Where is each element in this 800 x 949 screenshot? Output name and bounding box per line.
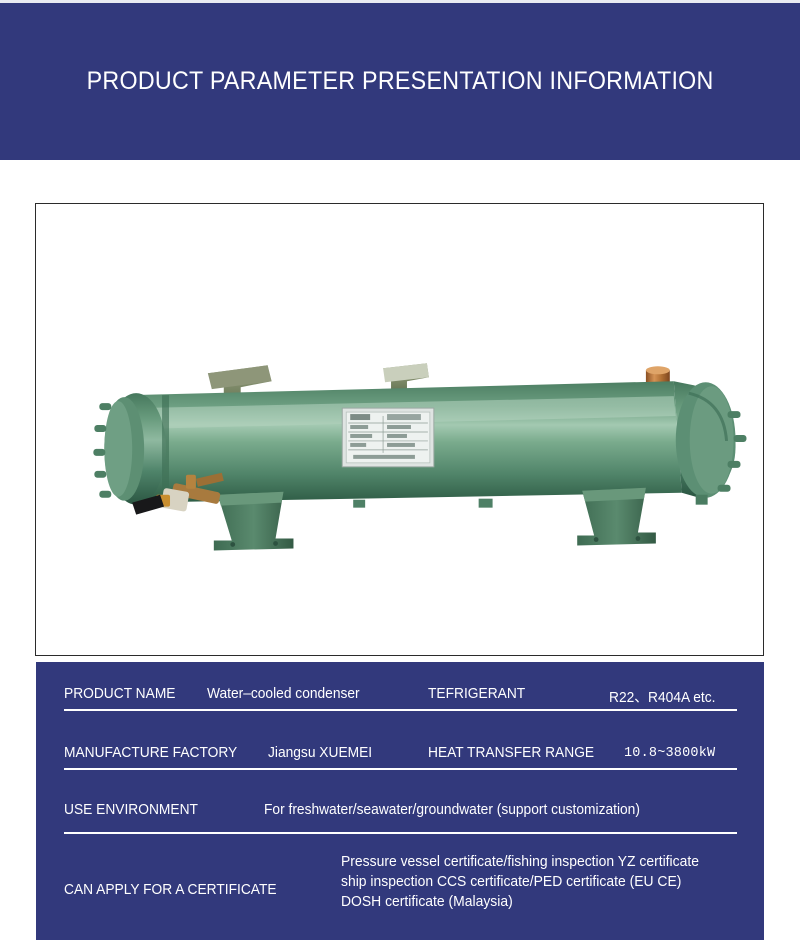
table-row: MANUFACTURE FACTORY Jiangsu XUEMEI HEAT … <box>36 722 764 781</box>
param-value-certificate: Pressure vessel certificate/fishing insp… <box>341 852 699 912</box>
page-title: PRODUCT PARAMETER PRESENTATION INFORMATI… <box>86 67 713 96</box>
param-label-heat-transfer-range: HEAT TRANSFER RANGE <box>428 745 594 761</box>
row-divider <box>64 768 737 770</box>
product-parameter-table: PRODUCT NAME Water–cooled condenser TEFR… <box>36 662 764 940</box>
param-label-use-environment: USE ENVIRONMENT <box>64 802 198 818</box>
table-row: USE ENVIRONMENT For freshwater/seawater/… <box>36 781 764 839</box>
table-row: CAN APPLY FOR A CERTIFICATE Pressure ves… <box>36 839 764 940</box>
product-photo-condenser <box>36 204 763 655</box>
param-value-product-name: Water–cooled condenser <box>207 686 360 702</box>
param-value-use-environment: For freshwater/seawater/groundwater (sup… <box>264 802 640 818</box>
param-value-manufacture-factory: Jiangsu XUEMEI <box>268 745 372 761</box>
param-label-certificate: CAN APPLY FOR A CERTIFICATE <box>64 882 277 898</box>
param-value-heat-transfer-range: 10.8~3800kW <box>624 746 715 761</box>
param-label-refrigerant: TEFRIGERANT <box>428 686 525 702</box>
param-label-product-name: PRODUCT NAME <box>64 686 175 702</box>
page-header-band: PRODUCT PARAMETER PRESENTATION INFORMATI… <box>0 3 800 160</box>
product-image-panel <box>35 203 764 656</box>
product-nameplate <box>342 408 434 467</box>
param-label-manufacture-factory: MANUFACTURE FACTORY <box>64 745 237 761</box>
param-value-refrigerant: R22、R404A etc. <box>609 686 715 707</box>
row-divider <box>64 832 737 834</box>
table-row: PRODUCT NAME Water–cooled condenser TEFR… <box>36 662 764 722</box>
row-divider <box>64 709 737 711</box>
